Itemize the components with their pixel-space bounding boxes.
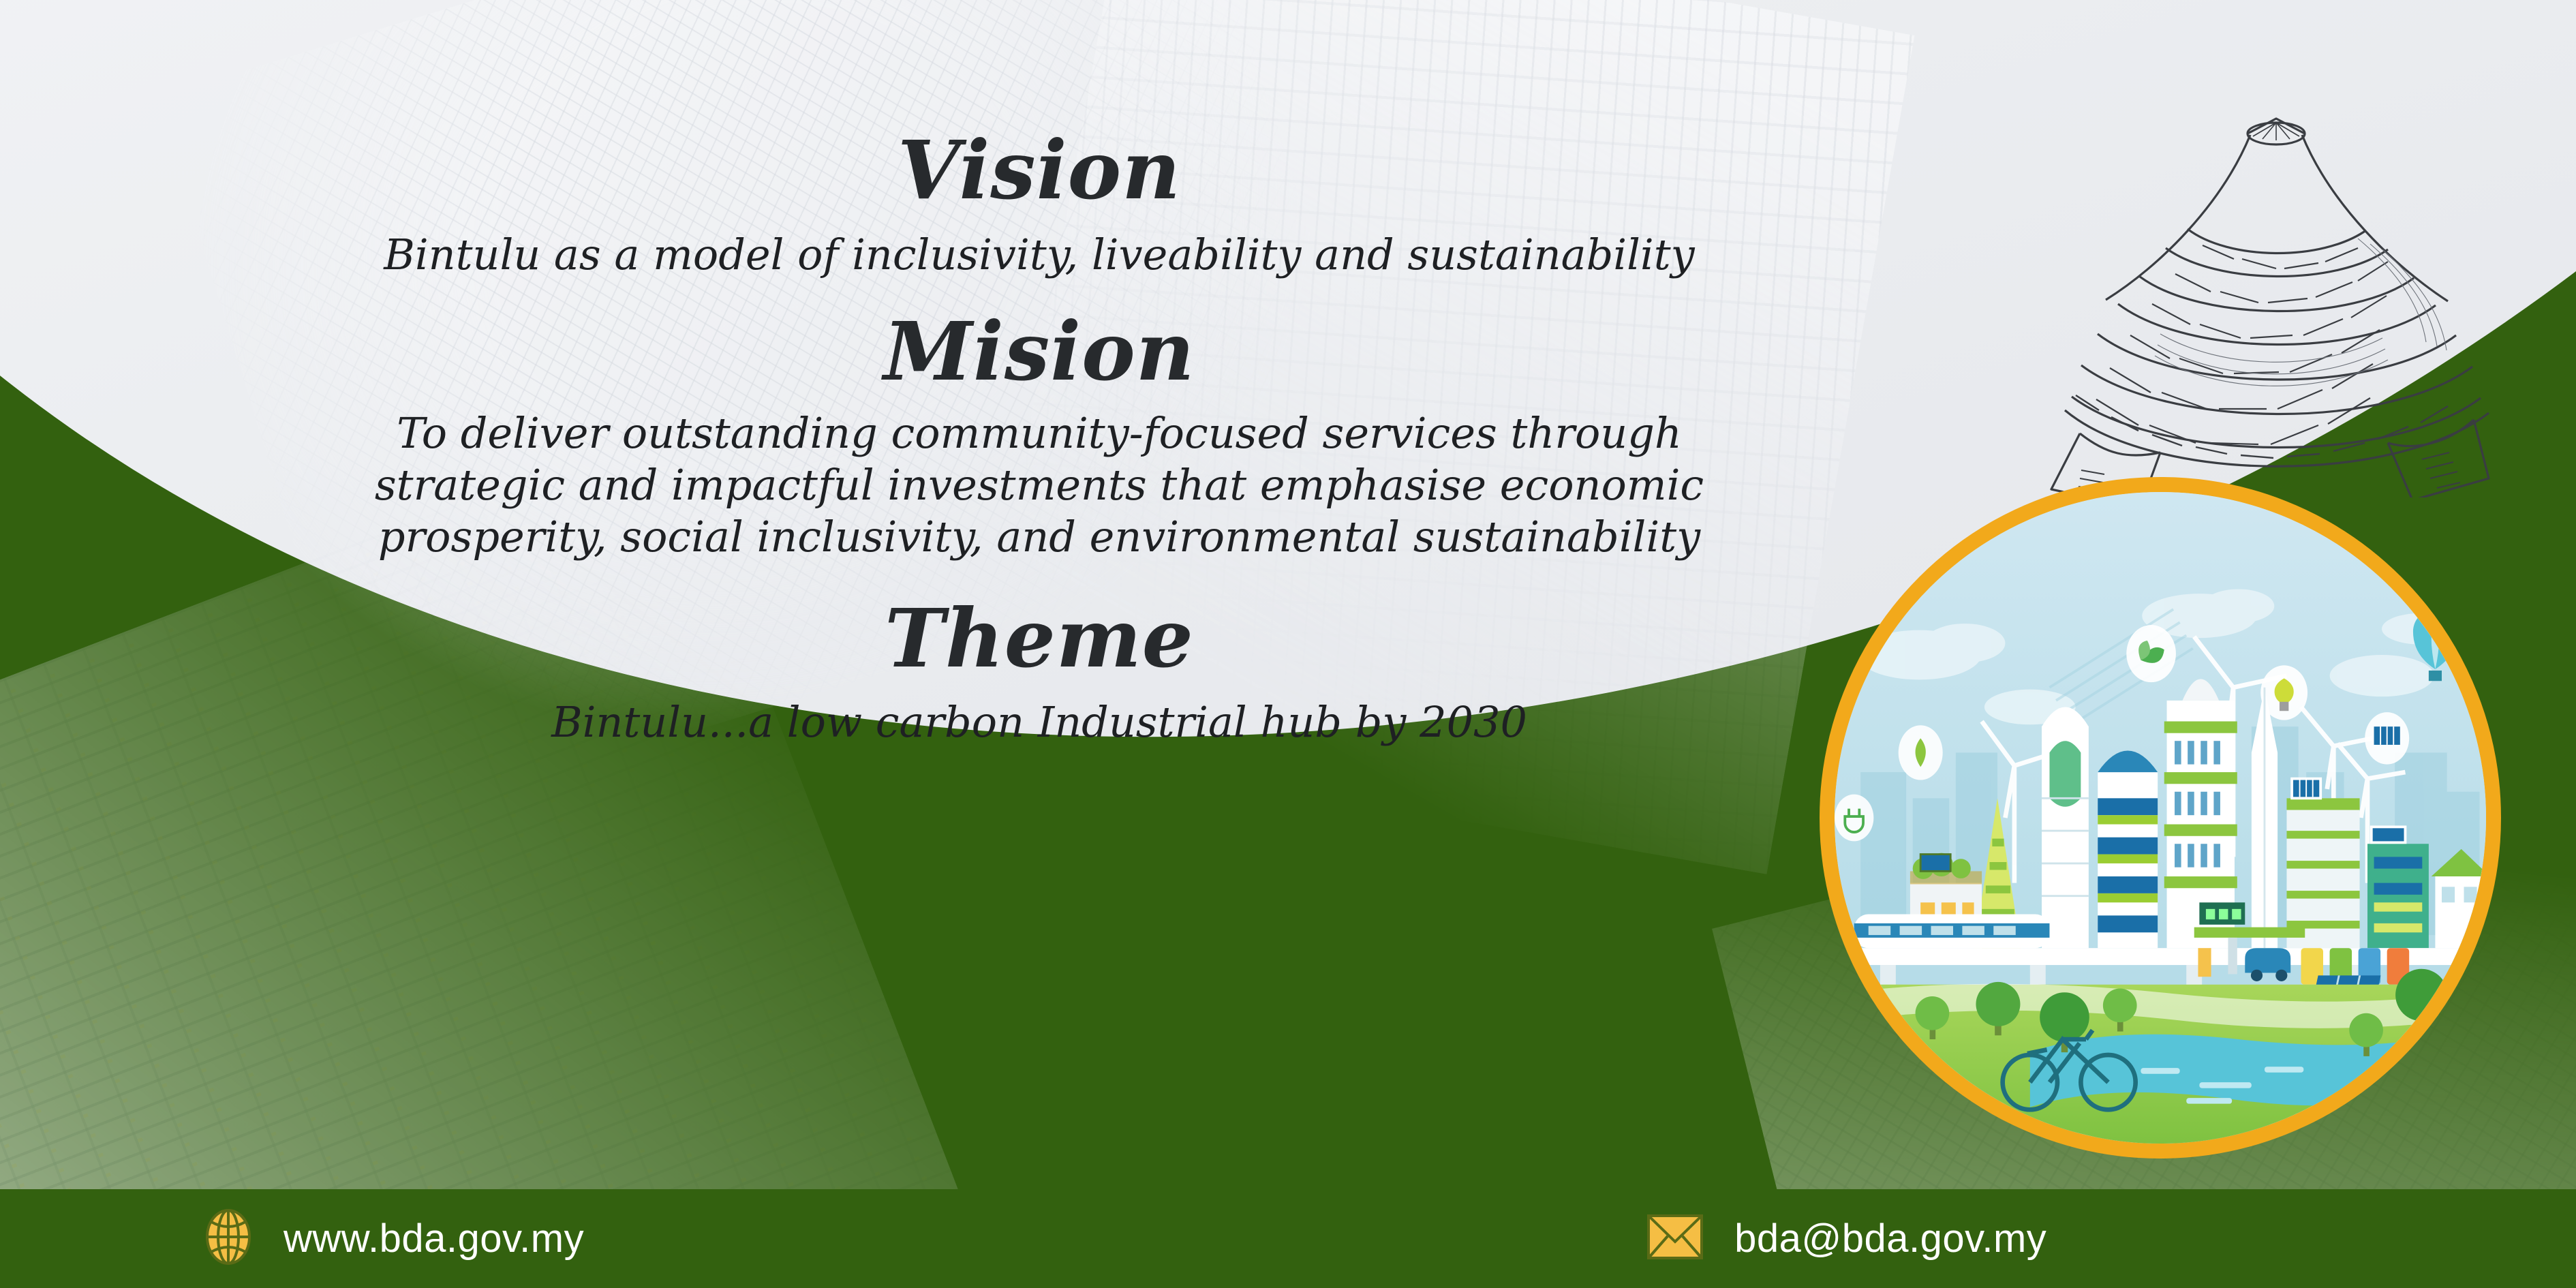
email-label: bda@bda.gov.my: [1734, 1216, 2046, 1261]
envelope-icon: [1647, 1214, 1703, 1263]
vision-heading: Vision: [204, 129, 1874, 211]
section-mission: Mision To deliver outstanding community-…: [204, 311, 1874, 562]
eco-city-photo: [1820, 477, 2501, 1159]
contact-footer: www.bda.gov.my bda@bda.gov.my: [0, 1189, 2576, 1288]
vision-line-1: Bintulu as a model of inclusivity, livea…: [204, 229, 1874, 281]
section-vision: Vision Bintulu as a model of inclusivity…: [204, 129, 1874, 281]
theme-line-1: Bintulu...a low carbon Industrial hub by…: [204, 696, 1874, 748]
globe-icon: [204, 1209, 252, 1268]
theme-heading: Theme: [204, 598, 1874, 679]
mission-line-2: strategic and impactful investments that…: [204, 459, 1874, 511]
mission-line-1: To deliver outstanding community-focused…: [204, 408, 1874, 459]
email-contact[interactable]: bda@bda.gov.my: [1647, 1214, 2046, 1263]
mission-line-3: prosperity, social inclusivity, and envi…: [204, 511, 1874, 563]
website-label: www.bda.gov.my: [283, 1216, 584, 1261]
website-contact[interactable]: www.bda.gov.my: [204, 1209, 584, 1268]
vision-mission-theme-copy: Vision Bintulu as a model of inclusivity…: [204, 129, 1874, 748]
section-theme: Theme Bintulu...a low carbon Industrial …: [204, 598, 1874, 748]
mission-heading: Mision: [204, 311, 1874, 393]
bda-vision-mission-banner: Vision Bintulu as a model of inclusivity…: [0, 0, 2576, 1288]
conical-tower-icon: [1935, 102, 2576, 497]
